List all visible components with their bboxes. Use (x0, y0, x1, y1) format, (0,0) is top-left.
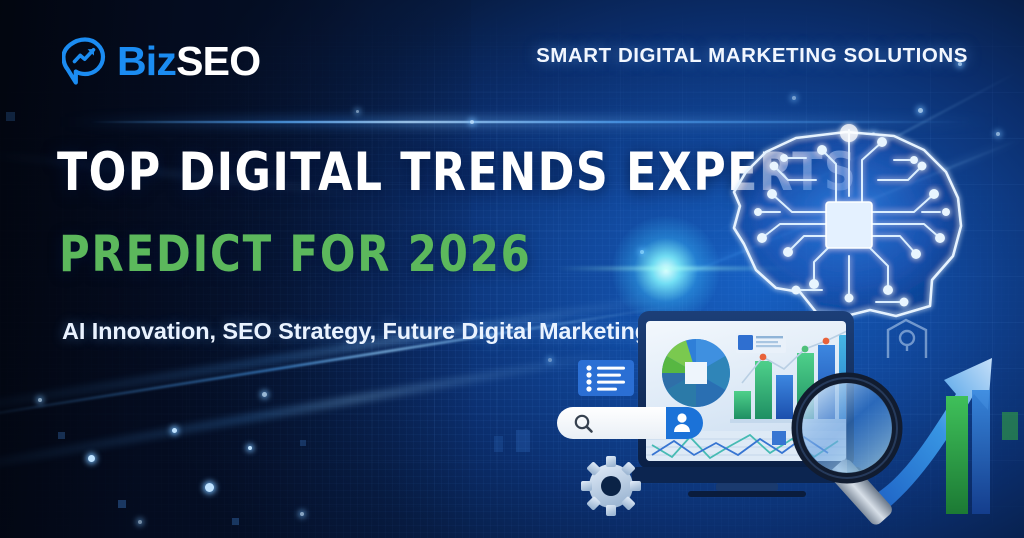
seo-banner-graphic: BizSEO SMART DIGITAL MARKETING SOLUTIONS… (0, 0, 1024, 538)
logo-text-seo: SEO (176, 38, 260, 84)
glow-particle (996, 132, 1000, 136)
glow-particle (205, 483, 214, 492)
glow-particle (172, 428, 177, 433)
gear-icon (580, 455, 642, 517)
magnifier-trend-icon (62, 36, 108, 86)
glow-particle (548, 358, 552, 362)
search-bar-widget[interactable] (556, 404, 704, 444)
glow-particle (248, 446, 252, 450)
magnifying-glass-icon (790, 372, 930, 532)
glow-particle (300, 512, 304, 516)
logo[interactable]: BizSEO (62, 36, 260, 86)
grid-square (232, 518, 239, 525)
grid-square (6, 112, 15, 121)
ai-brain-circuit-icon (718, 120, 980, 320)
grid-square (516, 430, 530, 452)
background-growth-bars (944, 390, 1024, 538)
glow-particle (918, 108, 923, 113)
glow-particle (138, 520, 142, 524)
glow-particle (88, 455, 95, 462)
grid-square (118, 500, 126, 508)
grid-square (300, 440, 306, 446)
header-tagline: SMART DIGITAL MARKETING SOLUTIONS (536, 44, 968, 68)
glow-particle (470, 120, 474, 124)
lightbulb-idea-icon (882, 318, 932, 364)
hero-subtitle: AI Innovation, SEO Strategy, Future Digi… (62, 318, 649, 345)
glow-particle (262, 392, 267, 397)
glow-particle (356, 110, 359, 113)
glow-particle (38, 398, 42, 402)
logo-text: BizSEO (117, 41, 260, 82)
user-avatar-icon (666, 407, 703, 439)
headline-line-2: PREDICT FOR 2026 (59, 229, 532, 279)
bulleted-list-icon (578, 360, 634, 396)
grid-square (58, 432, 65, 439)
grid-square (494, 436, 503, 452)
glow-particle (792, 96, 796, 100)
logo-text-biz: Biz (117, 38, 176, 84)
